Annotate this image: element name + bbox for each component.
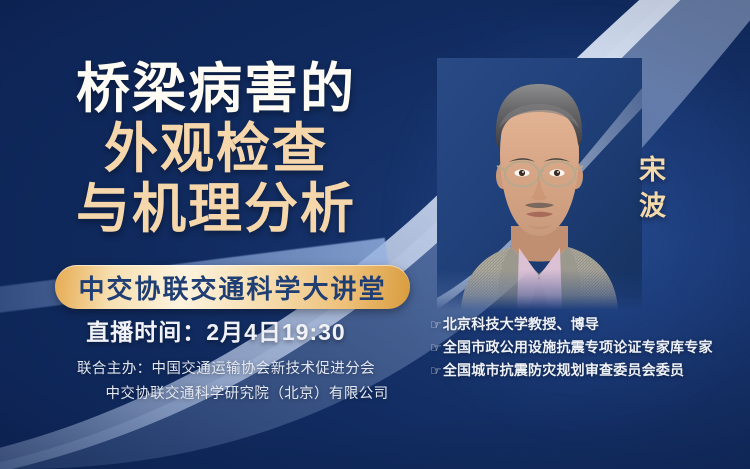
title-line-2: 外观检查 — [0, 122, 432, 176]
title-line-1: 桥梁病害的 — [0, 62, 432, 116]
series-badge: 中交协联交通科学大讲堂 — [55, 265, 410, 309]
credential-row: ☞ 全国城市抗震防灾规划审查委员会委员 — [430, 359, 748, 382]
credential-row: ☞ 全国市政公用设施抗震专项论证专家库专家 — [430, 336, 748, 359]
speaker-credentials: ☞ 北京科技大学教授、博导 ☞ 全国市政公用设施抗震专项论证专家库专家 ☞ 全国… — [430, 313, 748, 382]
series-badge-label: 中交协联交通科学大讲堂 — [78, 269, 386, 306]
organizers-block: 联合主办：中国交通运输协会新技术促进分会 中交协联交通科学研究院（北京）有限公司 — [0, 357, 452, 408]
pointing-hand-icon: ☞ — [430, 338, 442, 359]
lecture-poster: 桥梁病害的 外观检查 与机理分析 中交协联交通科学大讲堂 直播时间：2月4日19… — [0, 0, 750, 469]
page-title: 桥梁病害的 外观检查 与机理分析 — [0, 62, 432, 236]
live-time: 直播时间：2月4日19:30 — [0, 313, 432, 347]
speaker-name-char-2: 波 — [630, 188, 676, 224]
organizer-line-1: 联合主办：中国交通运输协会新技术促进分会 — [0, 357, 452, 382]
credential-text: 北京科技大学教授、博导 — [443, 313, 599, 336]
speaker-name-char-1: 宋 — [630, 152, 676, 188]
credential-row: ☞ 北京科技大学教授、博导 — [430, 313, 748, 336]
speaker-portrait — [437, 58, 642, 310]
speaker-name: 宋 波 — [630, 152, 676, 225]
credential-text: 全国市政公用设施抗震专项论证专家库专家 — [443, 336, 713, 359]
organizer-line-2: 中交协联交通科学研究院（北京）有限公司 — [0, 382, 452, 407]
pointing-hand-icon: ☞ — [430, 361, 442, 382]
pointing-hand-icon: ☞ — [430, 315, 442, 336]
title-line-3: 与机理分析 — [0, 182, 432, 236]
credential-text: 全国城市抗震防灾规划审查委员会委员 — [443, 359, 684, 382]
